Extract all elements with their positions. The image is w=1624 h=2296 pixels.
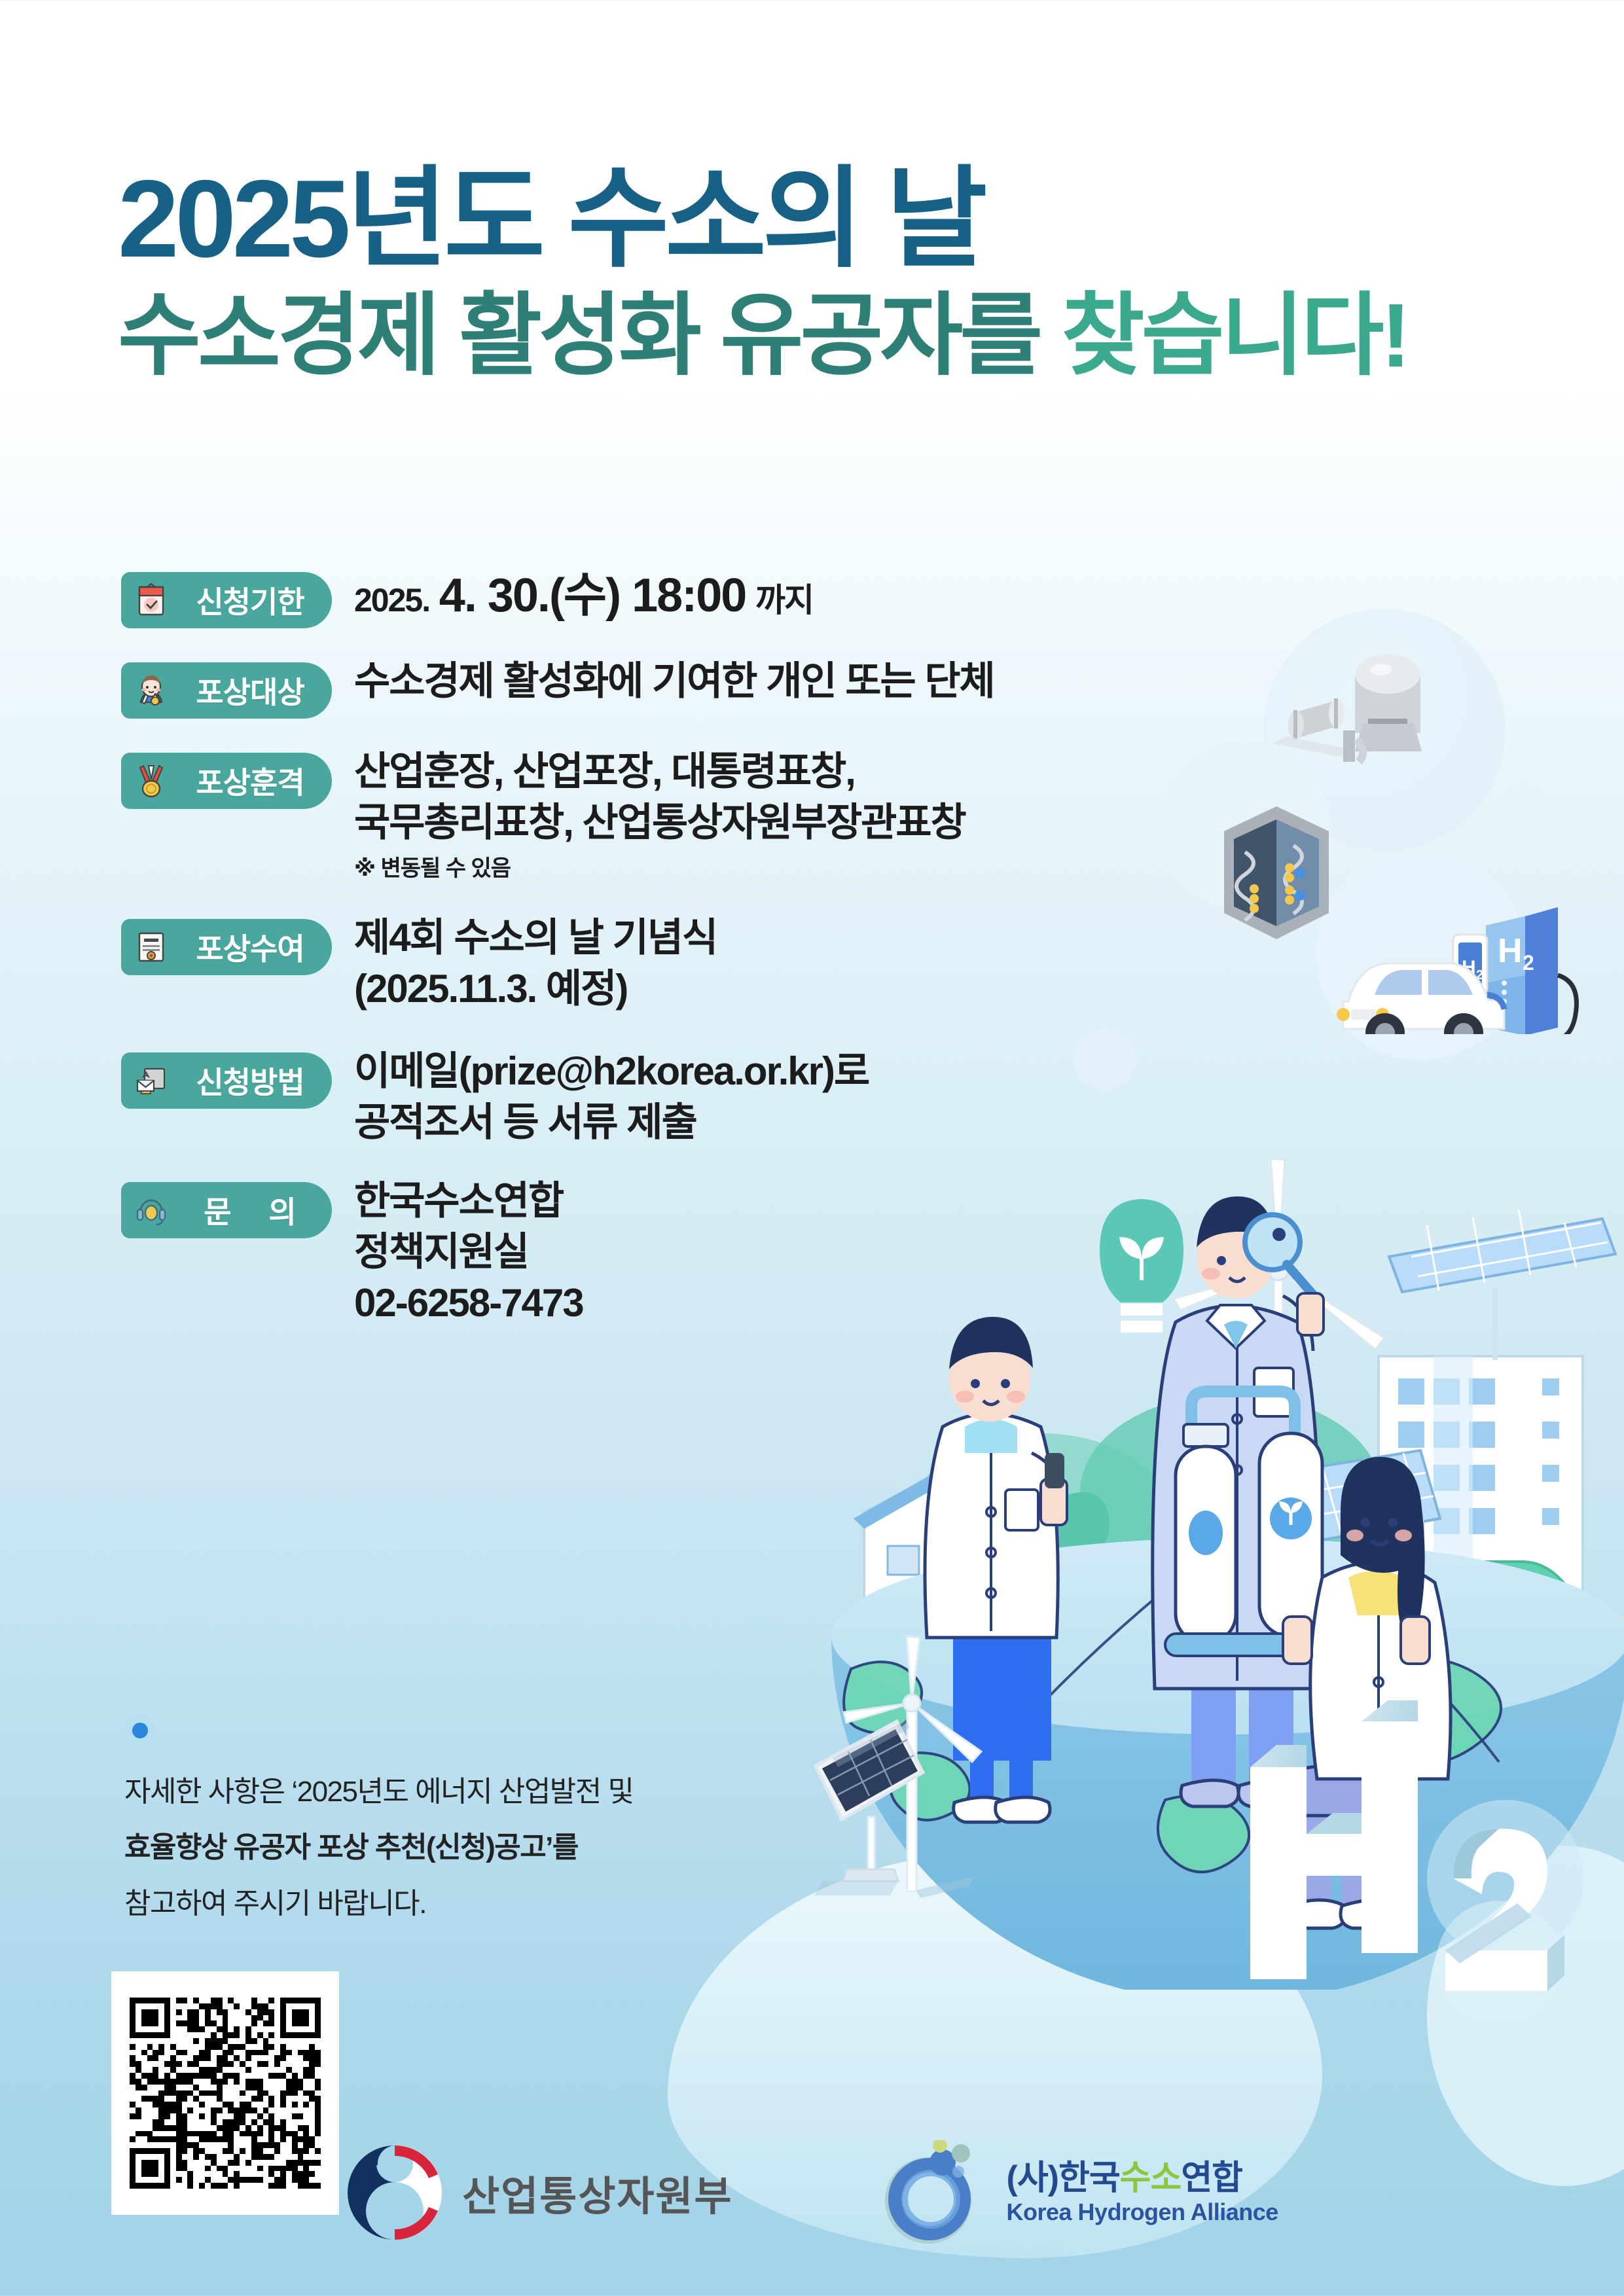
- motie-taegeuk-icon: [346, 2140, 444, 2245]
- badge-label-awards: 포상훈격: [179, 759, 321, 802]
- badge-label-how-to-apply: 신청방법: [179, 1059, 321, 1102]
- badge-label-deadline: 신청기한: [179, 579, 321, 622]
- scientist-left-figure: [925, 1317, 1067, 1822]
- awards-note: ※ 변동될 수 있음: [354, 853, 965, 885]
- badge-how-to-apply: 신청방법: [121, 1052, 332, 1109]
- electrolyser-icon: [1224, 806, 1329, 939]
- svg-text:H: H: [1462, 957, 1476, 978]
- bullet-dot-icon: [124, 1715, 156, 1746]
- station-h2-label: H: [1498, 932, 1523, 970]
- page-subtitle-part1: 수소경제 활성화 유공자를: [118, 285, 1062, 386]
- info-content-contact: 한국수소연합 정책지원실 02-6258-7473: [354, 1173, 583, 1329]
- award-person-icon: [133, 672, 170, 709]
- badge-awards: 포상훈격: [121, 753, 332, 809]
- car-h2-badge: H₂: [1476, 1613, 1493, 1630]
- footnote-line-2: 효율향상 유공자 포상 추천(신청)공고’를: [124, 1828, 877, 1867]
- kha-kr-c: 연합: [1181, 2159, 1242, 2197]
- contact-dept: 정책지원실: [354, 1227, 583, 1278]
- footnote-line-1: 자세한 사항은 ‘2025년도 에너지 산업발전 및: [124, 1772, 877, 1811]
- footnote-block: 자세한 사항은 ‘2025년도 에너지 산업발전 및 효율향상 유공자 포상 추…: [124, 1715, 877, 1940]
- medal-icon: [133, 762, 170, 799]
- page-title: 2025년도 수소의 날: [118, 164, 1492, 274]
- svg-text:2: 2: [1476, 968, 1483, 982]
- info-row-eligibility: 포상대상 수소경제 활성화에 기여한 개인 또는 단체: [121, 653, 1103, 719]
- headset-icon: [133, 1192, 170, 1229]
- awards-line-1: 산업훈장, 산업포장, 대통령표창,: [354, 746, 965, 797]
- info-row-contact: 문 의 한국수소연합 정책지원실 02-6258-7473: [121, 1173, 1103, 1329]
- poster-title-block: 2025년도 수소의 날 수소경제 활성화 유공자를 찾습니다!: [118, 164, 1492, 381]
- awards-line-2: 국무총리표창, 산업통상자원부장관표창: [354, 797, 965, 848]
- footnote-line-3: 참고하여 주시기 바랍니다.: [124, 1884, 877, 1923]
- deadline-value: 2025. 4. 30.(수) 18:00 까지: [354, 565, 813, 627]
- contact-org: 한국수소연합: [354, 1175, 583, 1227]
- house-icon: [854, 1461, 1058, 1610]
- hydrogen-station-icon: H 2 H 2: [1337, 907, 1576, 1034]
- kha-kr-a: (사)한국: [1007, 2159, 1120, 2197]
- wind-turbine-icon: [1174, 1158, 1384, 1623]
- info-content-ceremony: 제4회 수소의 날 기념식 (2025.11.3. 예정): [354, 910, 717, 1014]
- kha-korean-label: (사)한국수소연합: [1007, 2161, 1278, 2195]
- ground-solar-panel-icon: [1291, 1450, 1440, 1542]
- background-blob-small: [1496, 782, 1552, 838]
- kha-logo: (사)한국수소연합 Korea Hydrogen Alliance: [877, 2140, 1278, 2245]
- info-row-awards: 포상훈격 산업훈장, 산업포장, 대통령표창, 국무총리표창, 산업통상자원부장…: [121, 744, 1103, 885]
- deadline-prefix: 2025.: [354, 582, 429, 619]
- badge-contact: 문 의: [121, 1182, 332, 1238]
- ceremony-line-2: (2025.11.3. 예정): [354, 963, 717, 1014]
- background-blob-station: [1316, 851, 1525, 1060]
- kha-english-label: Korea Hydrogen Alliance: [1007, 2200, 1278, 2224]
- deadline-date: 4. 30.(수) 18:00: [439, 569, 746, 622]
- motie-logo: 산업통상자원부: [346, 2140, 732, 2245]
- ceremony-line-1: 제4회 수소의 날 기념식: [354, 912, 717, 963]
- background-blob-top-right: [1263, 609, 1506, 851]
- contact-phone: 02-6258-7473: [354, 1278, 583, 1329]
- info-rows: 신청기한 2025. 4. 30.(수) 18:00 까지: [121, 563, 1103, 1354]
- page-subtitle: 수소경제 활성화 유공자를 찾습니다!: [118, 291, 1492, 381]
- kha-emblem-icon: [877, 2140, 988, 2245]
- footer-logos: 산업통상자원부 (사)한국수소연합 Korea Hydrogen Allianc…: [0, 2127, 1624, 2258]
- info-row-ceremony: 포상수여 제4회 수소의 날 기념식 (2025.11.3. 예정): [121, 910, 1103, 1014]
- tree-icon: [1053, 1492, 1110, 1604]
- badge-deadline: 신청기한: [121, 572, 332, 628]
- kha-kr-b: 수소: [1120, 2159, 1182, 2197]
- deadline-suffix: 까지: [755, 582, 813, 619]
- info-content-how-to-apply: 이메일(prize@h2korea.or.kr)로 공적조서 등 서류 제출: [354, 1043, 869, 1148]
- info-content-awards: 산업훈장, 산업포장, 대통령표창, 국무총리표창, 산업통상자원부장관표창 ※…: [354, 744, 965, 885]
- motie-label: 산업통상자원부: [462, 2163, 732, 2222]
- info-content-deadline: 2025. 4. 30.(수) 18:00 까지: [354, 563, 813, 627]
- page-subtitle-part2: 찾습니다!: [1062, 285, 1408, 386]
- badge-label-contact: 문 의: [179, 1189, 321, 1232]
- rooftop-solar-panel-icon: [1389, 1210, 1615, 1360]
- mail-send-icon: [133, 1062, 170, 1099]
- clipboard-check-icon: [133, 582, 170, 619]
- badge-label-eligibility: 포상대상: [179, 669, 321, 712]
- badge-eligibility: 포상대상: [121, 662, 332, 719]
- certificate-icon: [133, 929, 170, 965]
- city-buildings-icon: [1291, 1210, 1615, 1624]
- info-row-how-to-apply: 신청방법 이메일(prize@h2korea.or.kr)로 공적조서 등 서류…: [121, 1043, 1103, 1148]
- hill-shape: [1080, 1394, 1381, 1590]
- hydrogen-tank-icon: [1273, 655, 1422, 762]
- how-to-apply-line-1: 이메일(prize@h2korea.or.kr)로: [354, 1046, 869, 1097]
- eligibility-line-1: 수소경제 활성화에 기여한 개인 또는 단체: [354, 656, 994, 707]
- lightbulb-leaf-icon: [1100, 1199, 1183, 1333]
- badge-label-ceremony: 포상수여: [179, 925, 321, 969]
- info-content-eligibility: 수소경제 활성화에 기여한 개인 또는 단체: [354, 653, 994, 707]
- svg-text:2: 2: [1523, 951, 1534, 975]
- how-to-apply-line-2: 공적조서 등 서류 제출: [354, 1097, 869, 1148]
- kha-text: (사)한국수소연합 Korea Hydrogen Alliance: [1007, 2161, 1278, 2224]
- big-h2-logo: [1224, 1682, 1617, 2022]
- hydrogen-car-icon: H₂: [1405, 1562, 1624, 1666]
- background-blob-mid-left: [1159, 740, 1329, 910]
- info-row-deadline: 신청기한 2025. 4. 30.(수) 18:00 까지: [121, 563, 1103, 628]
- bullet-dot-inner: [132, 1723, 148, 1738]
- hydrogen-tanks-icon: [1165, 1391, 1362, 1656]
- badge-ceremony: 포상수여: [121, 919, 332, 975]
- hydrogen-equipment-illustration: H 2 H 2: [1172, 576, 1623, 1034]
